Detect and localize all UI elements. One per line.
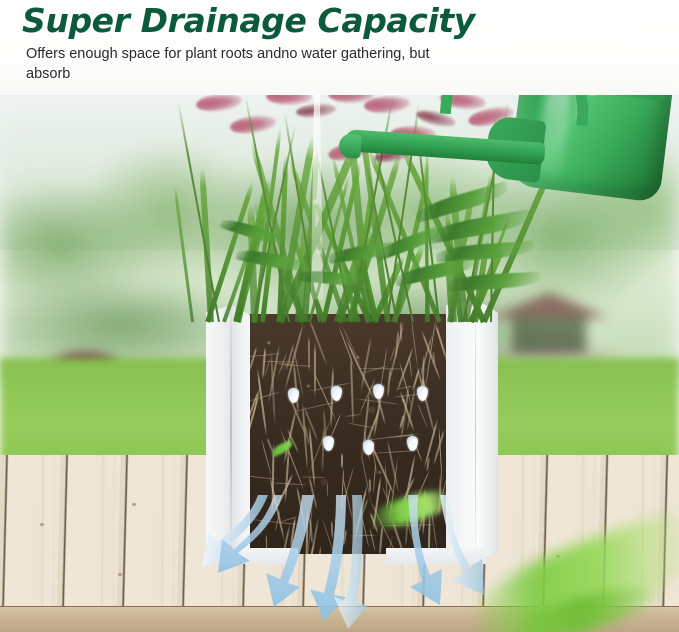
grass-stem bbox=[177, 102, 219, 323]
planter-bottom-right bbox=[386, 548, 486, 564]
deck-screw bbox=[118, 573, 122, 576]
soil-cross-section bbox=[249, 314, 447, 554]
header-banner: Super Drainage Capacity Offers enough sp… bbox=[0, 0, 679, 95]
root-strand bbox=[341, 453, 343, 469]
watering-can-spout-tip bbox=[338, 133, 362, 158]
deck-screw bbox=[330, 587, 334, 590]
planter-bottom-left bbox=[218, 548, 298, 564]
planter-left-wall bbox=[206, 305, 250, 553]
planter-right-seam bbox=[475, 304, 477, 554]
planter-box bbox=[206, 300, 498, 562]
product-feature-image: Super Drainage Capacity Offers enough sp… bbox=[0, 0, 679, 632]
deck-screw bbox=[40, 523, 44, 526]
deck-screw bbox=[132, 503, 136, 506]
planter-left-seam bbox=[230, 306, 232, 552]
page-subtitle: Offers enough space for plant roots andn… bbox=[26, 44, 456, 84]
planter-right-wall bbox=[446, 300, 498, 556]
page-title: Super Drainage Capacity bbox=[22, 1, 475, 40]
